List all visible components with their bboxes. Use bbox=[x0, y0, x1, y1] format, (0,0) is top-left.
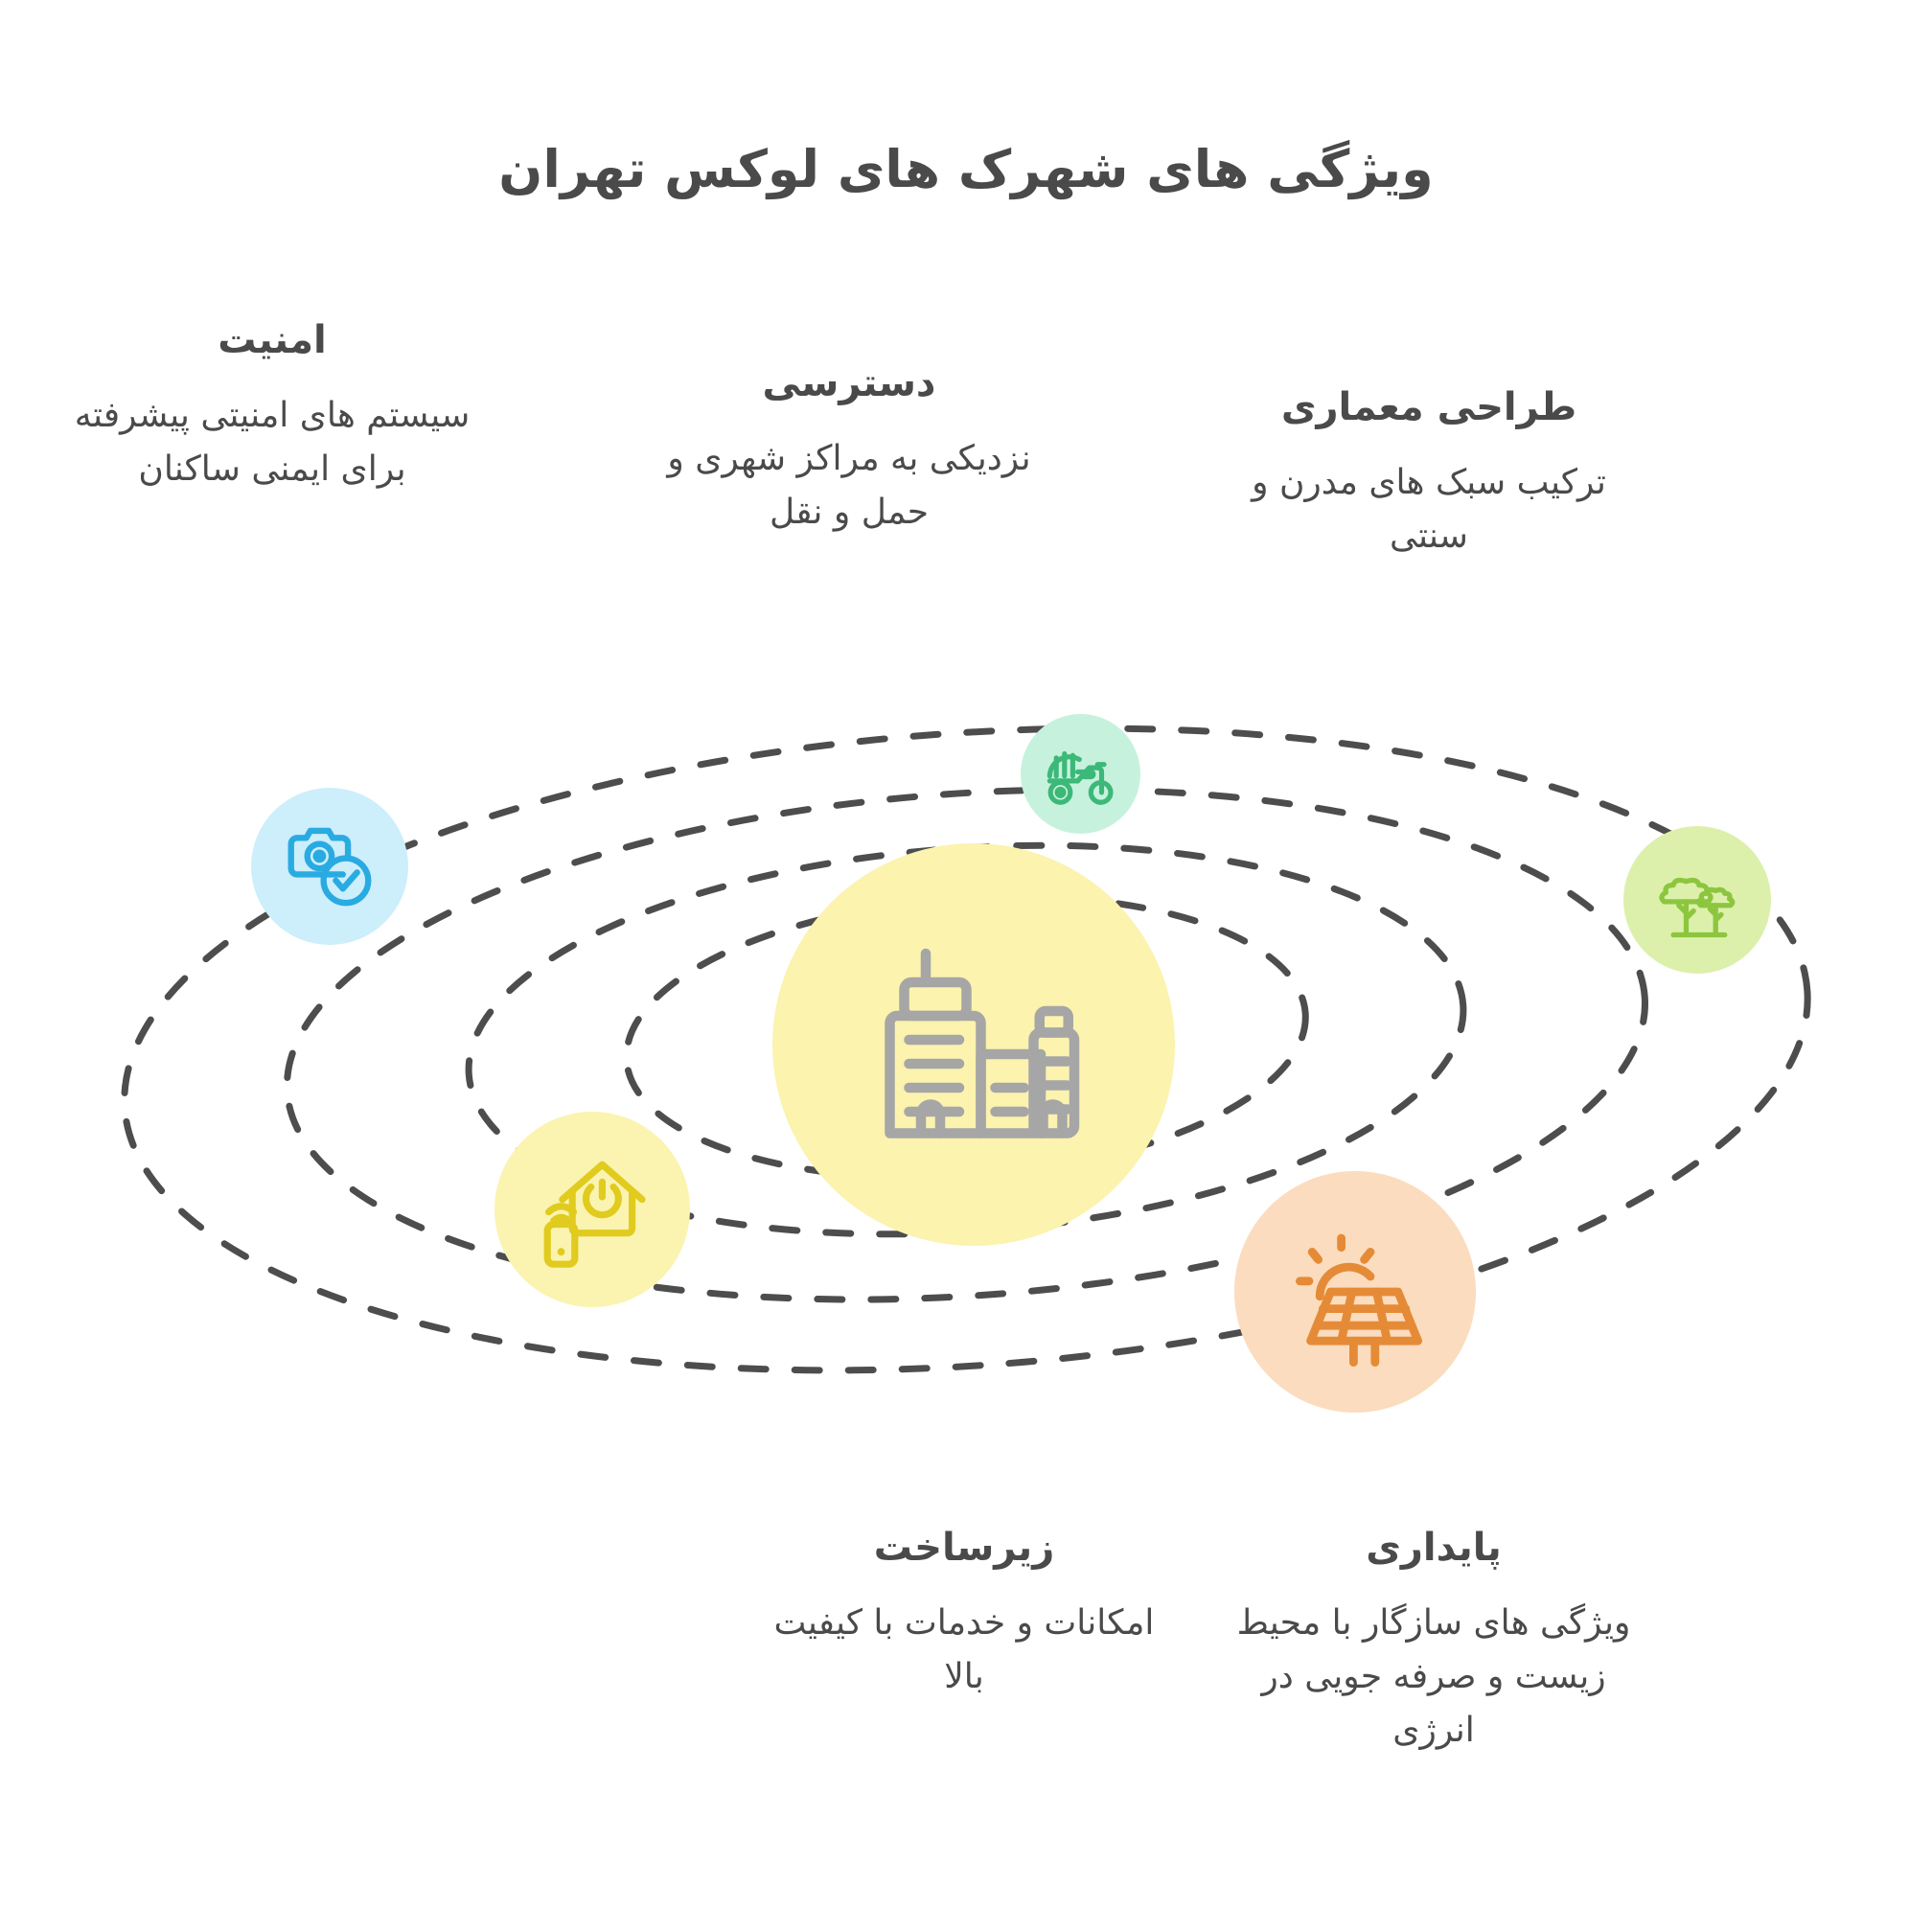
block-infrastructure: زیرساخت امکانات و خدمات با کیفیت بالا bbox=[753, 1524, 1175, 1704]
infographic-canvas: ویژگی های شهرک های لوکس تهران bbox=[0, 0, 1932, 1932]
heading-architecture: طراحی معماری bbox=[1223, 383, 1635, 431]
trees-icon bbox=[1651, 854, 1743, 946]
block-accessibility: دسترسی نزدیکی به مراکز شهری و حمل و نقل bbox=[643, 359, 1055, 540]
description-sustainability: ویژگی های سازگار با محیط زیست و صرفه جوی… bbox=[1223, 1597, 1644, 1757]
block-architecture: طراحی معماری ترکیب سبک های مدرن و سنتی bbox=[1223, 383, 1635, 563]
heading-infrastructure: زیرساخت bbox=[753, 1524, 1175, 1572]
bubble-architecture[interactable] bbox=[1623, 826, 1771, 974]
description-security: سیستم های امنیتی پیشرفته برای ایمنی ساکن… bbox=[71, 389, 473, 496]
bubble-infrastructure[interactable] bbox=[494, 1112, 690, 1307]
heading-sustainability: پایداری bbox=[1223, 1524, 1644, 1572]
description-infrastructure: امکانات و خدمات با کیفیت بالا bbox=[753, 1597, 1175, 1704]
bubble-sustainability[interactable] bbox=[1234, 1171, 1476, 1413]
rickshaw-bicycle-icon bbox=[1040, 733, 1122, 816]
block-sustainability: پایداری ویژگی های سازگار با محیط زیست و … bbox=[1223, 1524, 1644, 1757]
heading-security: امنیت bbox=[71, 316, 473, 364]
smart-home-remote-icon bbox=[530, 1147, 655, 1272]
solar-panel-sun-icon bbox=[1278, 1215, 1432, 1368]
security-camera-check-icon bbox=[279, 816, 380, 917]
description-architecture: ترکیب سبک های مدرن و سنتی bbox=[1223, 456, 1635, 563]
block-security: امنیت سیستم های امنیتی پیشرفته برای ایمن… bbox=[71, 316, 473, 496]
bubble-security[interactable] bbox=[251, 788, 408, 945]
center-city-bubble[interactable] bbox=[772, 843, 1175, 1246]
heading-accessibility: دسترسی bbox=[643, 359, 1055, 407]
description-accessibility: نزدیکی به مراکز شهری و حمل و نقل bbox=[643, 432, 1055, 540]
city-buildings-icon bbox=[854, 925, 1093, 1164]
bubble-accessibility[interactable] bbox=[1021, 714, 1140, 834]
